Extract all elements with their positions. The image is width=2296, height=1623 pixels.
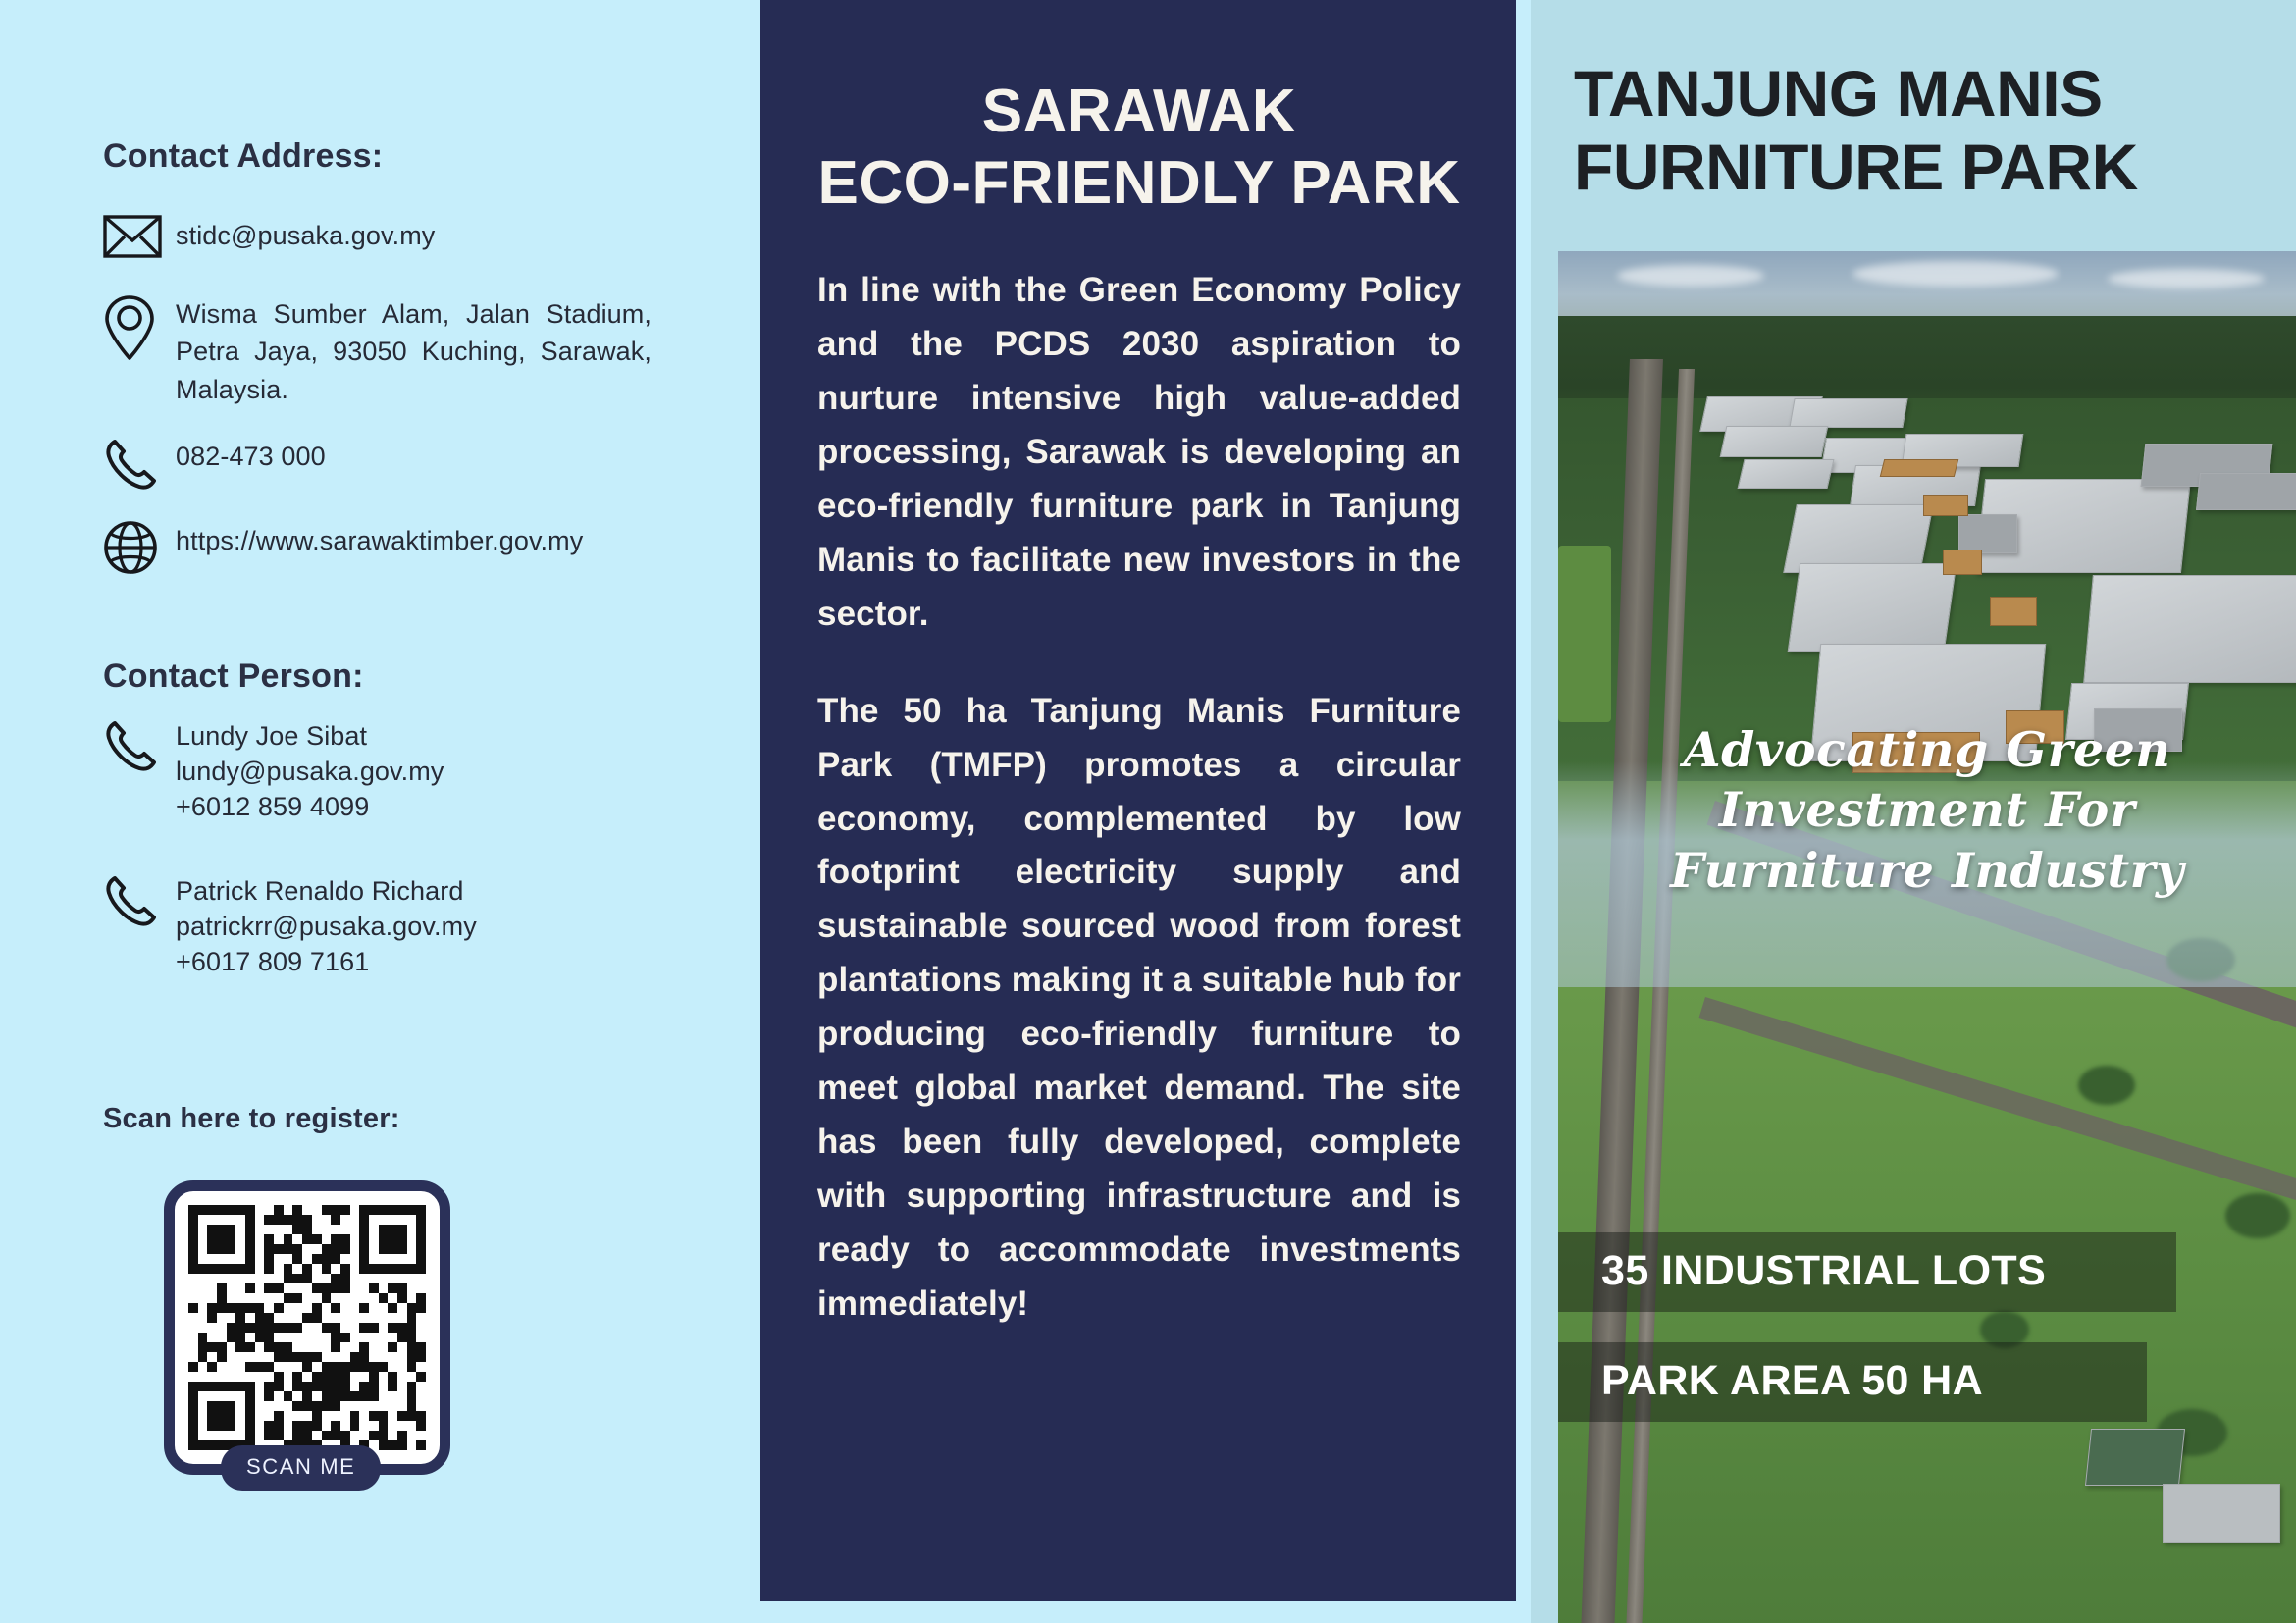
- warehouse-block: [1789, 398, 1907, 428]
- phone-icon: [103, 434, 176, 493]
- building-roof: [2085, 1429, 2185, 1486]
- qr-code-matrix: [188, 1205, 426, 1450]
- contact-email-text: stidc@pusaka.gov.my: [176, 213, 435, 254]
- warehouse-block: [1788, 563, 1957, 652]
- tagline-overlay: Advocating Green Investment For Furnitur…: [1558, 720, 2296, 901]
- tagline-line1: Advocating Green Investment For: [1684, 721, 2171, 838]
- stat-park-area: PARK AREA 50 HA: [1558, 1342, 2147, 1422]
- cloud-shape: [1852, 261, 2059, 287]
- globe-icon: [103, 518, 176, 575]
- cover-title-line1: TANJUNG MANIS: [1574, 57, 2103, 130]
- contact-address-row: Wisma Sumber Alam, Jalan Stadium, Petra …: [103, 291, 657, 408]
- warehouse-block: [1720, 426, 1829, 457]
- contact-person-details: Lundy Joe Sibat lundy@pusaka.gov.my +601…: [176, 715, 444, 825]
- contact-website-text: https://www.sarawaktimber.gov.my: [176, 518, 583, 559]
- scan-here-label: Scan here to register:: [103, 1103, 657, 1135]
- contact-email-row[interactable]: stidc@pusaka.gov.my: [103, 213, 657, 258]
- brochure-page: Contact Address: stidc@pusaka.gov.my Wis…: [0, 0, 2296, 1623]
- tagline-line2: Furniture Industry: [1670, 842, 2184, 899]
- aerial-photo: Advocating Green Investment For Furnitur…: [1558, 251, 2296, 1623]
- qr-code-block[interactable]: SCAN ME: [164, 1180, 450, 1475]
- center-title-line1: SARAWAK: [982, 78, 1296, 145]
- cloud-shape: [1617, 265, 1764, 287]
- person-mobile: +6012 859 4099: [176, 792, 369, 821]
- timber-stack: [1880, 459, 1958, 477]
- building-roof: [2163, 1484, 2280, 1543]
- timber-stack: [1923, 495, 1968, 516]
- contact-person-heading: Contact Person:: [103, 657, 657, 696]
- cover-title-line2: FURNITURE PARK: [1574, 131, 2138, 203]
- person-name: Patrick Renaldo Richard: [176, 876, 463, 906]
- person-email: patrickrr@pusaka.gov.my: [176, 912, 477, 941]
- location-pin-icon: [103, 291, 176, 362]
- contact-person-row-1[interactable]: Lundy Joe Sibat lundy@pusaka.gov.my +601…: [103, 715, 657, 825]
- warehouse-block: [2196, 473, 2296, 510]
- person-name: Lundy Joe Sibat: [176, 721, 367, 751]
- contact-phone-text: 082-473 000: [176, 434, 326, 475]
- contact-panel: Contact Address: stidc@pusaka.gov.my Wis…: [0, 0, 746, 1623]
- cover-title: TANJUNG MANIS FURNITURE PARK: [1531, 0, 2296, 203]
- description-panel: SARAWAK ECO-FRIENDLY PARK In line with t…: [746, 0, 1531, 1623]
- grass-patch: [1558, 546, 1611, 722]
- person-mobile: +6017 809 7161: [176, 947, 369, 976]
- timber-stack: [1990, 597, 2037, 626]
- center-title: SARAWAK ECO-FRIENDLY PARK: [817, 77, 1461, 219]
- stat-industrial-lots: 35 INDUSTRIAL LOTS: [1558, 1232, 2176, 1312]
- person-email: lundy@pusaka.gov.my: [176, 757, 444, 786]
- contact-website-row[interactable]: https://www.sarawaktimber.gov.my: [103, 518, 657, 575]
- contact-address-text: Wisma Sumber Alam, Jalan Stadium, Petra …: [176, 291, 652, 408]
- center-title-line2: ECO-FRIENDLY PARK: [818, 149, 1461, 217]
- tree-clump: [2078, 1066, 2135, 1105]
- envelope-icon: [103, 213, 176, 258]
- qr-code-frame: [164, 1180, 450, 1475]
- contact-person-row-2[interactable]: Patrick Renaldo Richard patrickrr@pusaka…: [103, 870, 657, 980]
- center-paragraph-2: The 50 ha Tanjung Manis Furniture Park (…: [817, 685, 1461, 1332]
- contact-address-heading: Contact Address:: [103, 137, 657, 176]
- navy-card: SARAWAK ECO-FRIENDLY PARK In line with t…: [760, 0, 1516, 1601]
- contact-phone-row[interactable]: 082-473 000: [103, 434, 657, 493]
- scan-me-badge: SCAN ME: [221, 1445, 381, 1491]
- phone-icon: [103, 715, 176, 774]
- center-paragraph-1: In line with the Green Economy Policy an…: [817, 264, 1461, 642]
- tree-clump: [2225, 1193, 2290, 1238]
- cloud-shape: [2108, 269, 2265, 288]
- warehouse-block: [1958, 514, 2017, 553]
- cover-panel: TANJUNG MANIS FURNITURE PARK: [1531, 0, 2296, 1623]
- timber-stack: [1943, 550, 1982, 575]
- phone-icon: [103, 870, 176, 929]
- warehouse-block: [1738, 459, 1835, 489]
- contact-person-details: Patrick Renaldo Richard patrickrr@pusaka…: [176, 870, 477, 980]
- warehouse-block: [2083, 575, 2296, 683]
